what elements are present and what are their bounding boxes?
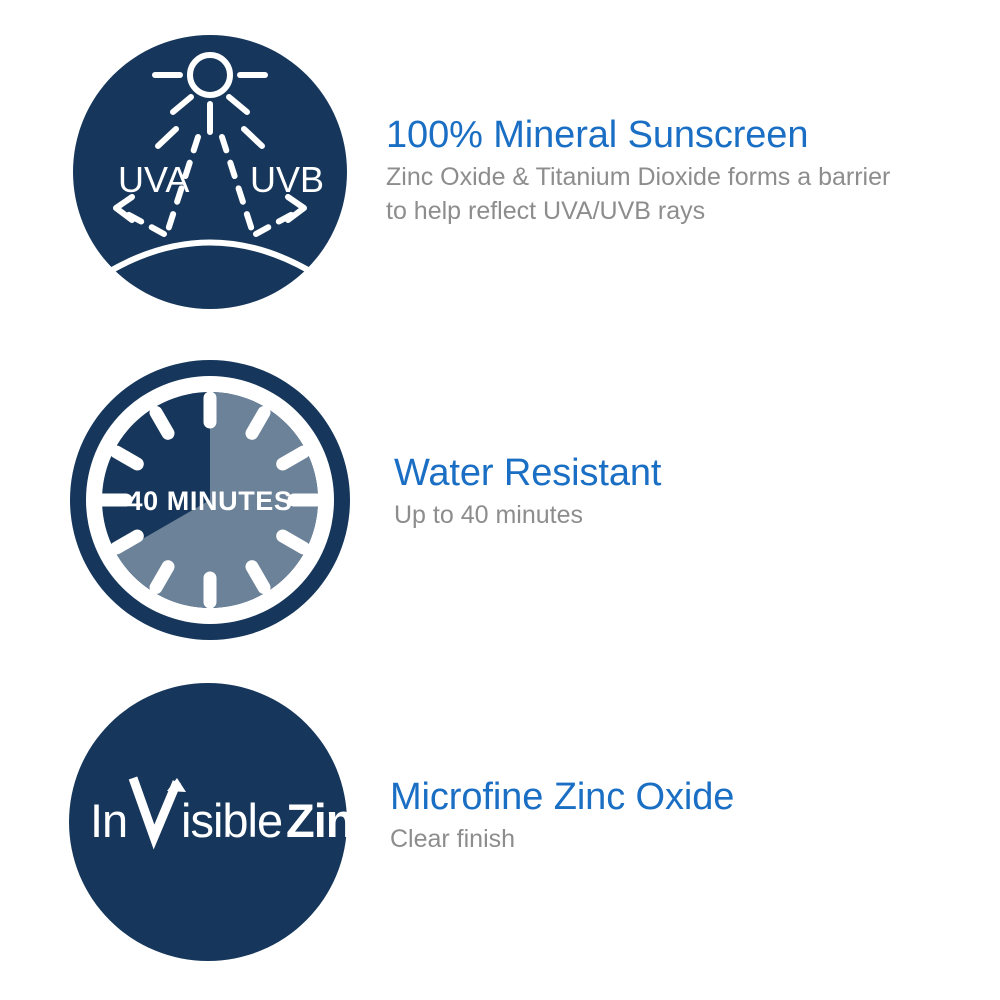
- copy-water-resistant: Water Resistant Up to 40 minutes: [394, 358, 1000, 532]
- uvb-label: UVB: [250, 159, 324, 200]
- subline-line-1: Zinc Oxide & Titanium Dioxide forms a ba…: [386, 163, 890, 191]
- feature-row-water-resistant: 40 MINUTES Water Resistant Up to 40 minu…: [0, 358, 1000, 642]
- feature-badge-board: UVA UVB 100% Mineral Sunscreen Zinc Oxid…: [0, 0, 1000, 1000]
- clock-40-minutes-icon: 40 MINUTES: [68, 358, 352, 642]
- badge-water-resistant: 40 MINUTES: [68, 358, 352, 642]
- logo-text-in: In: [90, 794, 127, 847]
- headline-microfine-zinc-oxide: Microfine Zinc Oxide: [390, 778, 1000, 818]
- headline-mineral-sunscreen: 100% Mineral Sunscreen: [386, 116, 1000, 156]
- copy-mineral-sunscreen: 100% Mineral Sunscreen Zinc Oxide & Tita…: [386, 34, 1000, 229]
- subline-line-2: to help reflect UVA/UVB rays: [386, 197, 705, 225]
- feature-row-mineral-sunscreen: UVA UVB 100% Mineral Sunscreen Zinc Oxid…: [0, 34, 1000, 310]
- logo-text-zinc: Zinc: [286, 794, 348, 847]
- clock-dial-label: 40 MINUTES: [127, 486, 292, 516]
- subline-water-resistant: Up to 40 minutes: [394, 498, 974, 533]
- badge-mineral-sunscreen: UVA UVB: [72, 34, 348, 310]
- headline-water-resistant: Water Resistant: [394, 454, 1000, 494]
- invisible-zinc-logo-icon: In isible Zinc ™: [68, 682, 348, 962]
- copy-microfine-zinc-oxide: Microfine Zinc Oxide Clear finish: [390, 682, 1000, 856]
- uva-uvb-sun-shield-icon: UVA UVB: [72, 34, 348, 310]
- uva-label: UVA: [118, 159, 189, 200]
- logo-text-isible: isible: [181, 794, 282, 847]
- subline-mineral-sunscreen: Zinc Oxide & Titanium Dioxide forms a ba…: [386, 160, 966, 229]
- feature-row-microfine-zinc-oxide: In isible Zinc ™ Microfine Zinc Oxide Cl…: [0, 682, 1000, 962]
- subline-microfine-zinc-oxide: Clear finish: [390, 822, 970, 857]
- badge-microfine-zinc-oxide: In isible Zinc ™: [68, 682, 348, 962]
